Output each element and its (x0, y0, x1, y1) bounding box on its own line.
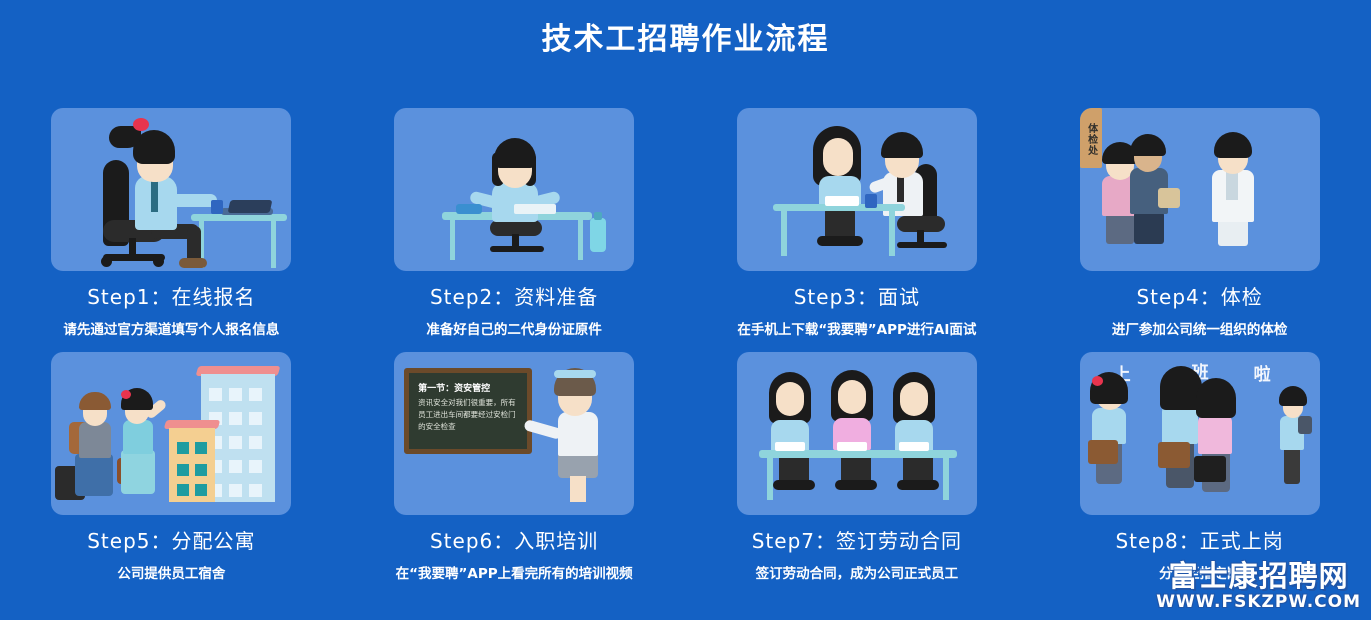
briefcase-icon (1088, 440, 1118, 464)
table-leg-left-shape (767, 456, 773, 500)
laptop-screen-icon (228, 200, 273, 213)
blackboard-body-text: 资讯安全对我们很重要，所有员工进出车间都要经过安检门的安全检查 (418, 397, 522, 433)
person-b-legs-shape (1134, 212, 1164, 244)
person-b-shoes-shape (835, 480, 877, 490)
table-leg-right-shape (943, 456, 949, 500)
doctor-hair-shape (1214, 132, 1252, 158)
medical-desk-sign: 体检处 (1080, 108, 1102, 168)
person-torso-shape (492, 182, 538, 222)
step-1-desc: 请先通过官方渠道填写个人报名信息 (63, 318, 279, 338)
man-torso-shape (79, 422, 111, 458)
blackboard-icon: 第一节：资安管控 资讯安全对我们很重要，所有员工进出车间都要经过安检门的安全检查 (404, 368, 532, 454)
person-c-hair-shape (1279, 386, 1307, 406)
table-top-shape (759, 450, 957, 458)
table-leg-left-shape (781, 210, 787, 256)
dormitory-building-icon (169, 428, 215, 502)
step-1-illustration (51, 108, 291, 271)
step-6-desc: 在“我要聘”APP上看完所有的培训视频 (396, 562, 633, 582)
contract-document-icon (899, 442, 929, 451)
desk-leg-right-shape (578, 218, 583, 260)
briefcase-dark-icon (1194, 456, 1226, 482)
contract-document-icon (837, 442, 867, 451)
bag-icon (1158, 188, 1180, 208)
desk-leg-left-shape (450, 218, 455, 260)
candidate-face-shape (823, 138, 853, 176)
person-b-hair-shape (1130, 134, 1166, 156)
step-6-illustration: 第一节：资安管控 资讯安全对我们很重要，所有员工进出车间都要经过安检门的安全检查 (394, 352, 634, 515)
step-2-title: Step2：资料准备 (430, 281, 598, 310)
step-4-illustration: 体检处 (1080, 108, 1320, 271)
step-1-title: Step1：在线报名 (87, 281, 255, 310)
trainer-torso-shape (558, 412, 598, 456)
step-3-illustration (737, 108, 977, 271)
person-b-torso-shape (1198, 414, 1232, 454)
person-a-legs-shape (1106, 214, 1134, 244)
cup-icon (211, 200, 223, 214)
step-card-4[interactable]: 体检处 Step4：体检 进厂参加公司统一组织的体检 (1028, 108, 1371, 352)
step-card-7[interactable]: Step7：签订劳动合同 签订劳动合同，成为公司正式员工 (686, 352, 1029, 596)
step-3-desc: 在手机上下载“我要聘”APP进行AI面试 (737, 318, 976, 338)
trainer-legs-shape (570, 476, 586, 502)
hair-bow-shape (1092, 376, 1103, 386)
step-card-2[interactable]: Step2：资料准备 准备好自己的二代身份证原件 (343, 108, 686, 352)
step-7-illustration (737, 352, 977, 515)
briefcase-icon (1158, 442, 1190, 468)
table-leg-right-shape (889, 210, 895, 256)
person-c-face-shape (900, 382, 928, 416)
man-hair-shape (79, 392, 111, 410)
girl-torso-shape (1092, 408, 1126, 444)
step-2-desc: 准备好自己的二代身份证原件 (426, 318, 602, 338)
paper-icon (825, 196, 859, 206)
step-4-desc: 进厂参加公司统一组织的体检 (1112, 318, 1288, 338)
shoe-shape (179, 258, 207, 268)
page-title: 技术工招聘作业流程 (0, 0, 1371, 58)
person-c-bag-shape (1298, 416, 1312, 434)
water-bottle-icon (590, 218, 606, 252)
step-3-title: Step3：面试 (794, 281, 920, 310)
man-legs-shape (75, 454, 113, 496)
step-5-desc: 公司提供员工宿舍 (117, 562, 225, 582)
step-7-desc: 签订劳动合同，成为公司正式员工 (756, 562, 959, 582)
bottle-cap-shape (594, 212, 602, 220)
step-4-title: Step4：体检 (1136, 281, 1262, 310)
step-5-illustration (51, 352, 291, 515)
necktie-shape (151, 178, 158, 212)
chair-base-shape (490, 246, 544, 252)
step-7-title: Step7：签订劳动合同 (752, 525, 962, 554)
step-card-6[interactable]: 第一节：资安管控 资讯安全对我们很重要，所有员工进出车间都要经过安检门的安全检查… (343, 352, 686, 596)
person-arm-shape (163, 194, 217, 207)
trainer-headband-shape (554, 370, 596, 378)
person-c-shoes-shape (897, 480, 939, 490)
person-b-face-shape (838, 380, 866, 414)
poster-root: { "title": "技术工招聘作业流程", "theme": { "back… (0, 0, 1371, 620)
desk-leg-right-shape (271, 220, 276, 268)
step-card-3[interactable]: Step3：面试 在手机上下载“我要聘”APP进行AI面试 (686, 108, 1029, 352)
doctor-inner-shirt-shape (1226, 170, 1238, 200)
necktie-shape (897, 174, 904, 202)
chair-wheel-left-shape (101, 256, 112, 267)
interviewer-hair-shape (881, 132, 923, 158)
person-c-legs-shape (1284, 446, 1300, 484)
steps-grid: Step1：在线报名 请先通过官方渠道填写个人报名信息 Step2：资料准备 准… (0, 108, 1371, 596)
chair-base-shape (897, 242, 947, 248)
step-2-illustration (394, 108, 634, 271)
woman-legs-shape (121, 450, 155, 494)
step-card-5[interactable]: Step5：分配公寓 公司提供员工宿舍 (0, 352, 343, 596)
step-6-title: Step6：入职培训 (430, 525, 598, 554)
step-8-illustration: 上 班 啦 (1080, 352, 1320, 515)
woman-torso-shape (123, 420, 153, 454)
step-card-1[interactable]: Step1：在线报名 请先通过官方渠道填写个人报名信息 (0, 108, 343, 352)
step-card-8[interactable]: 上 班 啦 (1028, 352, 1371, 596)
step-8-title: Step8：正式上岗 (1115, 525, 1283, 554)
person-a-torso-shape (1162, 404, 1198, 444)
glyph-la: 啦 (1254, 360, 1271, 385)
step-5-title: Step5：分配公寓 (87, 525, 255, 554)
cup-icon (865, 194, 877, 208)
chair-wheel-right-shape (153, 256, 164, 267)
hair-bow-shape (133, 118, 149, 131)
hair-shape (494, 138, 536, 168)
step-8-desc: 分配至指定岗 (1159, 562, 1240, 582)
person-a-shoes-shape (773, 480, 815, 490)
phone-icon (456, 204, 482, 214)
document-icon (514, 204, 556, 214)
doctor-legs-shape (1218, 218, 1248, 246)
candidate-shoes-shape (817, 236, 863, 246)
contract-document-icon (775, 442, 805, 451)
person-b-hair-shape (1196, 378, 1236, 418)
person-a-face-shape (776, 382, 804, 416)
blackboard-heading: 第一节：资安管控 (418, 381, 490, 394)
